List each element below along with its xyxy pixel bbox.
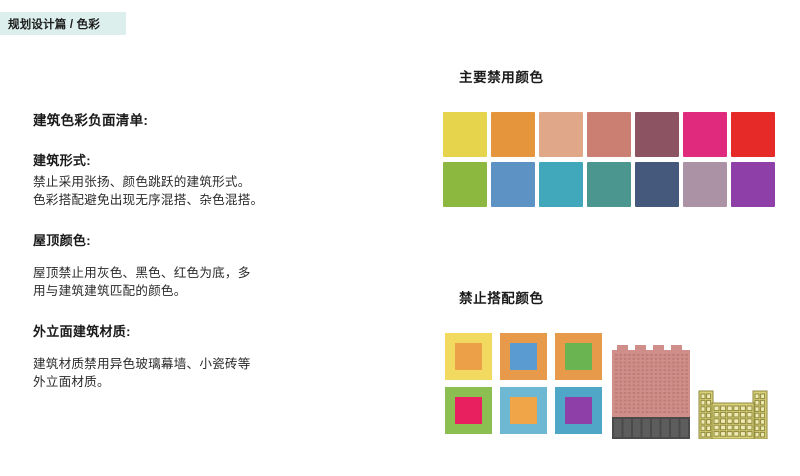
- section-facade-material: 外立面建筑材质: 建筑材质禁用异色玻璃幕墙、小瓷砖等 外立面材质。: [33, 323, 373, 392]
- section-body-line: 用与建筑建筑匹配的颜色。: [33, 283, 373, 301]
- page-title: 建筑色彩负面清单:: [33, 112, 373, 130]
- color-swatch-red: [731, 112, 775, 157]
- section-heading: 屋顶颜色:: [33, 232, 373, 250]
- section-building-form: 建筑形式: 禁止采用张扬、颜色跳跃的建筑形式。 色彩搭配避免出现无序混搭、杂色混…: [33, 152, 373, 209]
- section-body: 禁止采用张扬、颜色跳跃的建筑形式。 色彩搭配避免出现无序混搭、杂色混搭。: [33, 174, 373, 210]
- pink-building-svg: [612, 345, 690, 439]
- color-swatch-orange: [491, 112, 535, 157]
- section-body-line: 禁止采用张扬、颜色跳跃的建筑形式。: [33, 174, 373, 192]
- breadcrumb-label: 规划设计篇 / 色彩: [0, 16, 100, 32]
- color-swatch-yellow: [443, 112, 487, 157]
- color-swatch-teal-green: [587, 162, 631, 207]
- negative-list-panel: 建筑色彩负面清单: 建筑形式: 禁止采用张扬、颜色跳跃的建筑形式。 色彩搭配避免…: [33, 112, 373, 392]
- breadcrumb: 规划设计篇 / 色彩: [0, 12, 126, 35]
- section-body-line: 屋顶禁止用灰色、黑色、红色为底，多: [33, 265, 373, 283]
- section-body: 屋顶禁止用灰色、黑色、红色为底，多 用与建筑建筑匹配的颜色。: [33, 265, 373, 301]
- section-heading: 建筑形式:: [33, 152, 373, 170]
- color-swatch-purple: [731, 162, 775, 207]
- section-body-line: 建筑材质禁用异色玻璃幕墙、小瓷砖等: [33, 356, 373, 374]
- section-heading: 外立面建筑材质:: [33, 323, 373, 341]
- color-swatch-dark-mauve: [635, 112, 679, 157]
- pink-tower-block-illustration: [612, 345, 690, 439]
- color-swatch-magenta: [683, 112, 727, 157]
- section-body: 建筑材质禁用异色玻璃幕墙、小瓷砖等 外立面材质。: [33, 356, 373, 392]
- yellow-building-svg: [698, 385, 768, 439]
- color-swatch-salmon-brown: [587, 112, 631, 157]
- banned-building-examples: [440, 330, 800, 440]
- section-roof-color: 屋顶颜色: 屋顶禁止用灰色、黑色、红色为底，多 用与建筑建筑匹配的颜色。: [33, 232, 373, 301]
- color-swatch-navy-slate: [635, 162, 679, 207]
- section-body-line: 色彩搭配避免出现无序混搭、杂色混搭。: [33, 192, 373, 210]
- color-reference-panel: 主要禁用颜色 禁止搭配颜色: [440, 0, 800, 476]
- color-swatch-yellow-green: [443, 162, 487, 207]
- main-banned-colors-title: 主要禁用颜色: [459, 66, 544, 86]
- banned-combination-title: 禁止搭配颜色: [459, 287, 544, 307]
- section-body-line: 外立面材质。: [33, 374, 373, 392]
- color-swatch-peach: [539, 112, 583, 157]
- color-swatch-steel-blue: [491, 162, 535, 207]
- color-swatch-cyan-teal: [539, 162, 583, 207]
- yellow-tile-block-illustration: [698, 385, 768, 439]
- banned-color-palette: [443, 112, 775, 207]
- color-swatch-mauve-grey: [683, 162, 727, 207]
